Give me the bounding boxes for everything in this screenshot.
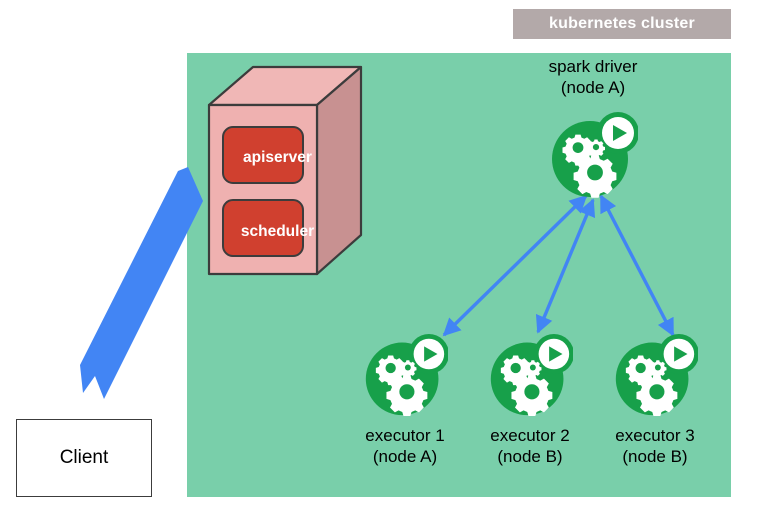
apiserver-label: apiserver: [220, 149, 335, 167]
gears-play-icon: [487, 333, 573, 424]
executor-1-node: executor 1 (node A): [362, 333, 448, 419]
spark-submit-arrow: [60, 165, 220, 405]
executor-2-node: executor 2 (node B): [487, 333, 573, 419]
gears-play-icon: [362, 333, 448, 424]
spark-driver-node: spark driver (node A): [548, 111, 638, 201]
executor-3-node: executor 3 (node B): [612, 333, 698, 419]
client-box: Client: [16, 419, 152, 497]
gears-play-icon: [612, 333, 698, 424]
scheduler-label: scheduler: [220, 223, 335, 241]
gears-play-icon: [548, 111, 638, 206]
control-plane-cube: apiserver scheduler: [205, 63, 365, 278]
cluster-title-bar: kubernetes cluster: [513, 9, 731, 39]
executor-3-label: executor 3 (node B): [575, 425, 735, 468]
diagram-canvas: kubernetes cluster Client spark-submit a…: [0, 0, 761, 516]
cluster-title-label: kubernetes cluster: [549, 15, 695, 33]
spark-driver-label: spark driver (node A): [513, 56, 673, 99]
client-label: Client: [60, 447, 109, 469]
